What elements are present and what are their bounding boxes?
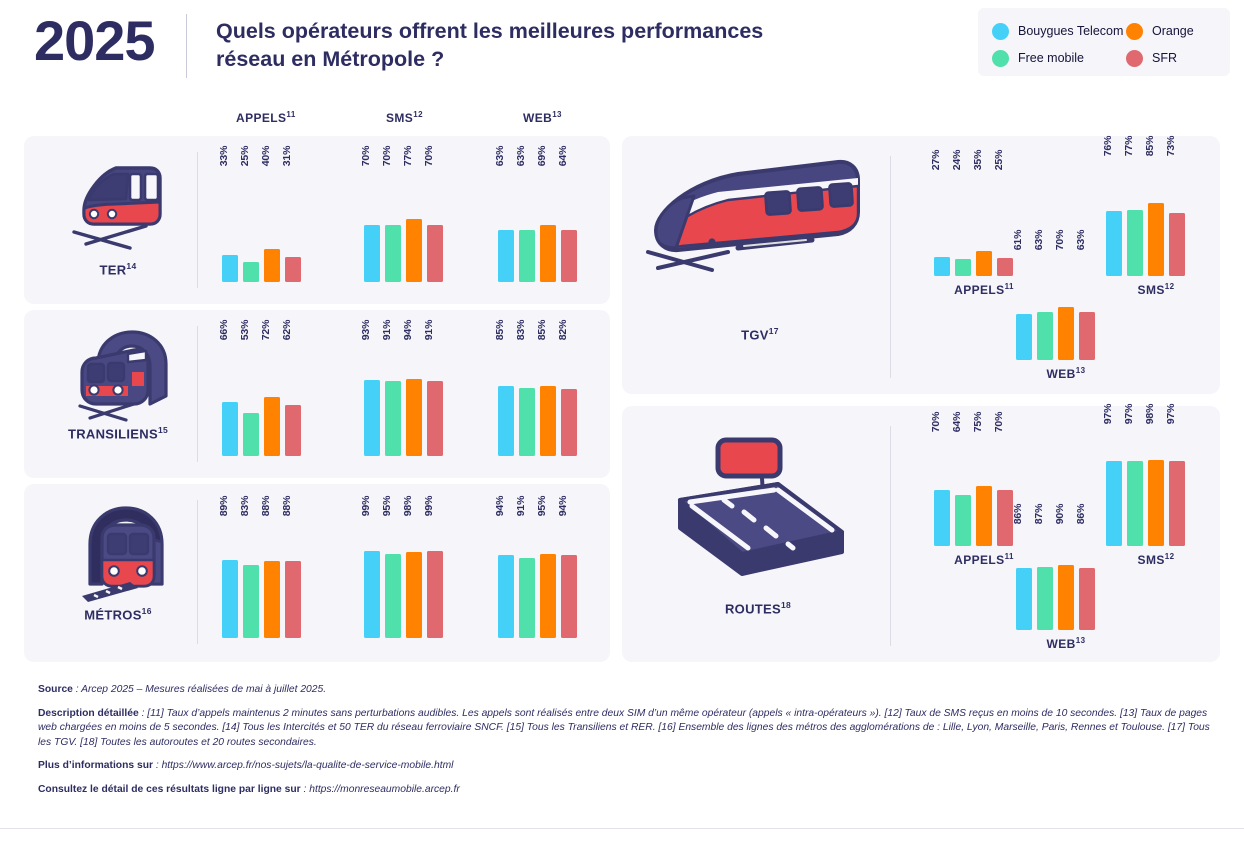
bar-slot: 88% [264,506,280,638]
bar-slot: 73% [1169,146,1185,276]
bar-slot: 70% [427,156,443,282]
bar-slot: 77% [1127,146,1143,276]
bar-value: 98% [1144,404,1156,424]
bar-value: 77% [402,146,414,166]
footnote-source-label: Source [38,684,73,695]
bar-slot: 63% [1079,240,1095,360]
bar-value: 93% [360,320,372,340]
bar-slot: 70% [1058,240,1074,360]
bar-value: 77% [1123,136,1135,156]
bar-value: 98% [402,496,414,516]
bar-bouygues [498,230,514,282]
bar-slot: 70% [385,156,401,282]
bar-slot: 24% [955,160,971,276]
bar-slot: 69% [540,156,556,282]
panel-divider [890,426,891,646]
panel-divider [197,152,198,288]
bars: 70% 70% 77% 70% [364,156,443,282]
bar-orange [406,219,422,282]
bar-value: 64% [557,146,569,166]
legend-color-dot [1126,23,1143,40]
bar-value: 53% [239,320,251,340]
panel-metros: MÉTROS16 89% 83% 88% 88% 99% 95% 98% 99%… [24,484,610,662]
bar-slot: 99% [364,506,380,638]
bar-free [1037,312,1053,360]
bar-value: 64% [951,412,963,432]
bars: 99% 95% 98% 99% [364,506,443,638]
bar-slot: 63% [519,156,535,282]
bar-value: 82% [557,320,569,340]
bar-value: 63% [1033,230,1045,250]
bar-value: 69% [536,146,548,166]
bar-slot: 91% [519,506,535,638]
bars: 97% 97% 98% 97% [1106,414,1185,546]
bargroup-metros-appels: 89% 83% 88% 88% [222,506,322,638]
bar-bouygues [934,490,950,546]
column-header-sms: SMS12 [386,110,423,125]
footnote-description: Description détaillée : [11] Taux d’appe… [38,707,1218,751]
bar-value: 62% [281,320,293,340]
panel-tgv: TGV17 27% 24% 35% 25% APPELS11 76% 77% 8… [622,136,1220,394]
bar-value: 97% [1102,404,1114,424]
bargroup-metros-web: 94% 91% 95% 94% [498,506,598,638]
bar-value: 24% [951,150,963,170]
suburban-train-tunnel-icon [68,324,178,435]
bar-value: 33% [218,146,230,166]
bar-slot: 86% [1016,514,1032,630]
bar-value: 70% [1054,230,1066,250]
legend-label: Orange [1152,24,1194,38]
group-caption-appels: APPELS11 [954,282,1014,297]
bar-sfr [561,555,577,638]
bar-slot: 83% [243,506,259,638]
legend-color-dot [992,23,1009,40]
bar-value: 97% [1165,404,1177,424]
bar-bouygues [498,386,514,456]
bar-value: 97% [1123,404,1135,424]
footnote-detail-label: Consultez le détail de ces résultats lig… [38,784,301,795]
bar-sfr [997,258,1013,276]
bar-sfr [427,381,443,456]
bar-value: 85% [1144,136,1156,156]
bar-value: 35% [972,150,984,170]
bar-slot: 98% [406,506,422,638]
bar-slot: 72% [264,330,280,456]
legend-color-dot [992,50,1009,67]
group-caption-web: WEB13 [1047,366,1086,381]
bar-slot: 40% [264,156,280,282]
bar-free [955,495,971,546]
bargroup-routes-sms: 97% 97% 98% 97% SMS12 [1106,414,1206,546]
bar-orange [1058,565,1074,630]
bar-value: 90% [1054,504,1066,524]
bar-value: 25% [239,146,251,166]
bar-slot: 35% [976,160,992,276]
bar-sfr [427,551,443,638]
bar-value: 70% [423,146,435,166]
bar-value: 83% [515,320,527,340]
bar-value: 61% [1012,230,1024,250]
legend-item-orange: Orange [1126,19,1194,43]
legend-column-left: Bouygues Telecom Free mobile [992,19,1123,73]
bar-value: 95% [381,496,393,516]
footnote-description-text: : [11] Taux d’appels maintenus 2 minutes… [38,708,1210,748]
bar-orange [1148,460,1164,546]
bar-value: 27% [930,150,942,170]
metro-tunnel-icon [68,498,180,613]
bar-value: 91% [381,320,393,340]
bar-slot: 95% [385,506,401,638]
bars: 61% 63% 70% 63% [1016,240,1095,360]
legend-label: Bouygues Telecom [1018,24,1123,38]
regional-train-icon [64,152,172,261]
bar-slot: 77% [406,156,422,282]
bar-sfr [1079,312,1095,360]
bar-slot: 61% [1016,240,1032,360]
bars: 94% 91% 95% 94% [498,506,577,638]
bar-slot: 86% [1079,514,1095,630]
bar-value: 72% [260,320,272,340]
header-divider [186,14,187,78]
footnote-source-text: : Arcep 2025 – Mesures réalisées de mai … [73,684,326,695]
bar-sfr [1169,213,1185,276]
legend-label: Free mobile [1018,51,1084,65]
bar-orange [540,554,556,638]
bar-slot: 90% [1058,514,1074,630]
bar-slot: 85% [540,330,556,456]
bar-orange [976,486,992,546]
bar-value: 86% [1012,504,1024,524]
bar-value: 70% [930,412,942,432]
page-year: 2025 [34,8,155,73]
footnote-more-url[interactable]: : https://www.arcep.fr/nos-sujets/la-qua… [153,760,453,771]
legend-column-right: Orange SFR [1126,19,1194,73]
bar-slot: 25% [243,156,259,282]
bar-value: 95% [536,496,548,516]
bar-sfr [1169,461,1185,546]
bar-slot: 99% [427,506,443,638]
bar-bouygues [222,560,238,638]
bars: 76% 77% 85% 73% [1106,146,1185,276]
bar-slot: 25% [997,160,1013,276]
bar-slot: 85% [1148,146,1164,276]
bar-free [243,565,259,638]
column-header-web: WEB13 [523,110,562,125]
bar-bouygues [364,380,380,456]
bar-value: 63% [494,146,506,166]
bar-slot: 70% [934,422,950,546]
bar-bouygues [1016,568,1032,630]
bar-orange [540,386,556,456]
bar-orange [1148,203,1164,276]
bar-free [1127,461,1143,546]
bars: 33% 25% 40% 31% [222,156,301,282]
bar-value: 87% [1033,504,1045,524]
bar-bouygues [934,257,950,276]
bar-slot: 53% [243,330,259,456]
bar-free [955,259,971,276]
bar-sfr [561,230,577,282]
bar-slot: 91% [427,330,443,456]
bar-value: 63% [515,146,527,166]
bar-bouygues [1016,314,1032,360]
panel-divider [197,500,198,644]
footnote-detail[interactable]: Consultez le détail de ces résultats lig… [38,783,1218,798]
panel-caption-ter: TER14 [52,261,184,277]
bargroup-ter-sms: 70% 70% 77% 70% [364,156,464,282]
bar-sfr [997,490,1013,546]
legend-label: SFR [1152,51,1177,65]
panel-routes: ROUTES18 70% 64% 75% 70% APPELS11 97% 97… [622,406,1220,662]
road-sign-icon [666,428,856,595]
bargroup-tgv-sms: 76% 77% 85% 73% SMS12 [1106,146,1206,276]
bar-slot: 98% [1148,414,1164,546]
bar-value: 76% [1102,136,1114,156]
bargroup-transiliens-web: 85% 83% 85% 82% [498,330,598,456]
bar-free [385,554,401,638]
bar-bouygues [364,225,380,282]
bar-free [385,381,401,456]
footnotes: Source : Arcep 2025 – Mesures réalisées … [38,683,1218,807]
bar-orange [1058,307,1074,360]
bar-slot: 27% [934,160,950,276]
bar-sfr [561,389,577,456]
panel-ter: TER14 33% 25% 40% 31% 70% 70% 77% 70% 63… [24,136,610,304]
bar-slot: 93% [364,330,380,456]
panel-caption-routes: ROUTES18 [670,600,846,616]
bargroup-metros-sms: 99% 95% 98% 99% [364,506,464,638]
bargroup-ter-appels: 33% 25% 40% 31% [222,156,322,282]
bar-orange [406,552,422,638]
bars: 86% 87% 90% 86% [1016,514,1095,630]
page-bottom-divider [0,828,1244,829]
panel-transiliens: TRANSILIENS15 66% 53% 72% 62% 93% 91% 94… [24,310,610,478]
bar-value: 99% [423,496,435,516]
bars: 66% 53% 72% 62% [222,330,301,456]
high-speed-train-icon [642,156,872,291]
bar-bouygues [498,555,514,638]
bar-free [385,225,401,282]
footnote-more-info[interactable]: Plus d’informations sur : https://www.ar… [38,759,1218,774]
bar-slot: 75% [976,422,992,546]
bar-orange [264,561,280,638]
bar-value: 85% [494,320,506,340]
bar-bouygues [222,402,238,456]
panel-caption-tgv: TGV17 [680,326,840,342]
bar-value: 63% [1075,230,1087,250]
bar-sfr [285,257,301,282]
column-header-appels: APPELS11 [236,110,296,125]
legend-color-dot [1126,50,1143,67]
bar-free [243,262,259,283]
bar-value: 25% [993,150,1005,170]
bar-value: 91% [515,496,527,516]
bars: 89% 83% 88% 88% [222,506,301,638]
bar-slot: 94% [498,506,514,638]
legend-item-bouygues-telecom: Bouygues Telecom [992,19,1123,43]
bar-value: 83% [239,496,251,516]
panel-caption-metros: MÉTROS16 [50,606,186,622]
bars: 63% 63% 69% 64% [498,156,577,282]
bar-sfr [427,225,443,282]
bar-slot: 33% [222,156,238,282]
group-caption-web: WEB13 [1047,636,1086,651]
bar-value: 91% [423,320,435,340]
bar-slot: 64% [561,156,577,282]
infographic-page: 2025 Quels opérateurs offrent les meille… [0,0,1244,843]
bar-slot: 91% [385,330,401,456]
bars: 93% 91% 94% 91% [364,330,443,456]
bar-free [519,230,535,282]
bar-sfr [1079,568,1095,630]
bar-value: 85% [536,320,548,340]
bar-orange [264,397,280,456]
bars: 85% 83% 85% 82% [498,330,577,456]
bar-slot: 94% [406,330,422,456]
bar-free [519,388,535,456]
bar-value: 94% [494,496,506,516]
bar-value: 31% [281,146,293,166]
bar-slot: 70% [997,422,1013,546]
bar-slot: 88% [285,506,301,638]
group-caption-appels: APPELS11 [954,552,1014,567]
bar-value: 70% [360,146,372,166]
bar-slot: 70% [364,156,380,282]
bars: 70% 64% 75% 70% [934,422,1013,546]
bar-value: 73% [1165,136,1177,156]
bar-value: 40% [260,146,272,166]
bargroup-transiliens-appels: 66% 53% 72% 62% [222,330,322,456]
bar-slot: 89% [222,506,238,638]
bar-slot: 97% [1127,414,1143,546]
bar-slot: 31% [285,156,301,282]
footnote-source: Source : Arcep 2025 – Mesures réalisées … [38,683,1218,698]
panel-caption-transiliens: TRANSILIENS15 [42,425,194,441]
bar-sfr [285,405,301,456]
bar-slot: 82% [561,330,577,456]
group-caption-sms: SMS12 [1138,552,1175,567]
bargroup-transiliens-sms: 93% 91% 94% 91% [364,330,464,456]
legend-item-sfr: SFR [1126,46,1194,70]
bar-value: 70% [993,412,1005,432]
bar-slot: 66% [222,330,238,456]
bar-bouygues [364,551,380,638]
bar-free [519,558,535,638]
bar-value: 75% [972,412,984,432]
bar-value: 88% [260,496,272,516]
bar-orange [264,249,280,282]
bargroup-routes-web: 86% 87% 90% 86% WEB13 [1016,514,1116,630]
bar-value: 86% [1075,504,1087,524]
bar-slot: 63% [1037,240,1053,360]
bar-free [1127,210,1143,276]
bar-slot: 85% [498,330,514,456]
footnote-description-label: Description détaillée [38,708,139,719]
bar-value: 89% [218,496,230,516]
bar-orange [406,379,422,456]
bar-value: 70% [381,146,393,166]
bar-slot: 83% [519,330,535,456]
footnote-detail-url[interactable]: : https://monreseaumobile.arcep.fr [301,784,460,795]
bar-sfr [285,561,301,638]
bar-free [1037,567,1053,630]
bar-orange [976,251,992,276]
panel-divider [197,326,198,462]
bar-value: 66% [218,320,230,340]
bar-slot: 97% [1169,414,1185,546]
bargroup-tgv-web: 61% 63% 70% 63% WEB13 [1016,240,1116,360]
legend: Bouygues Telecom Free mobile Orange SFR [978,8,1230,76]
bar-slot: 95% [540,506,556,638]
bar-slot: 87% [1037,514,1053,630]
bar-value: 94% [402,320,414,340]
bar-value: 88% [281,496,293,516]
bar-slot: 94% [561,506,577,638]
bar-slot: 62% [285,330,301,456]
bars: 27% 24% 35% 25% [934,160,1013,276]
page-title: Quels opérateurs offrent les meilleures … [216,17,776,74]
bar-bouygues [222,255,238,282]
footnote-more-label: Plus d’informations sur [38,760,153,771]
panel-divider [890,156,891,378]
bar-value: 99% [360,496,372,516]
group-caption-sms: SMS12 [1138,282,1175,297]
legend-item-free-mobile: Free mobile [992,46,1123,70]
bar-free [243,413,259,456]
bargroup-ter-web: 63% 63% 69% 64% [498,156,598,282]
bar-slot: 64% [955,422,971,546]
bar-slot: 63% [498,156,514,282]
bar-value: 94% [557,496,569,516]
bar-orange [540,225,556,282]
